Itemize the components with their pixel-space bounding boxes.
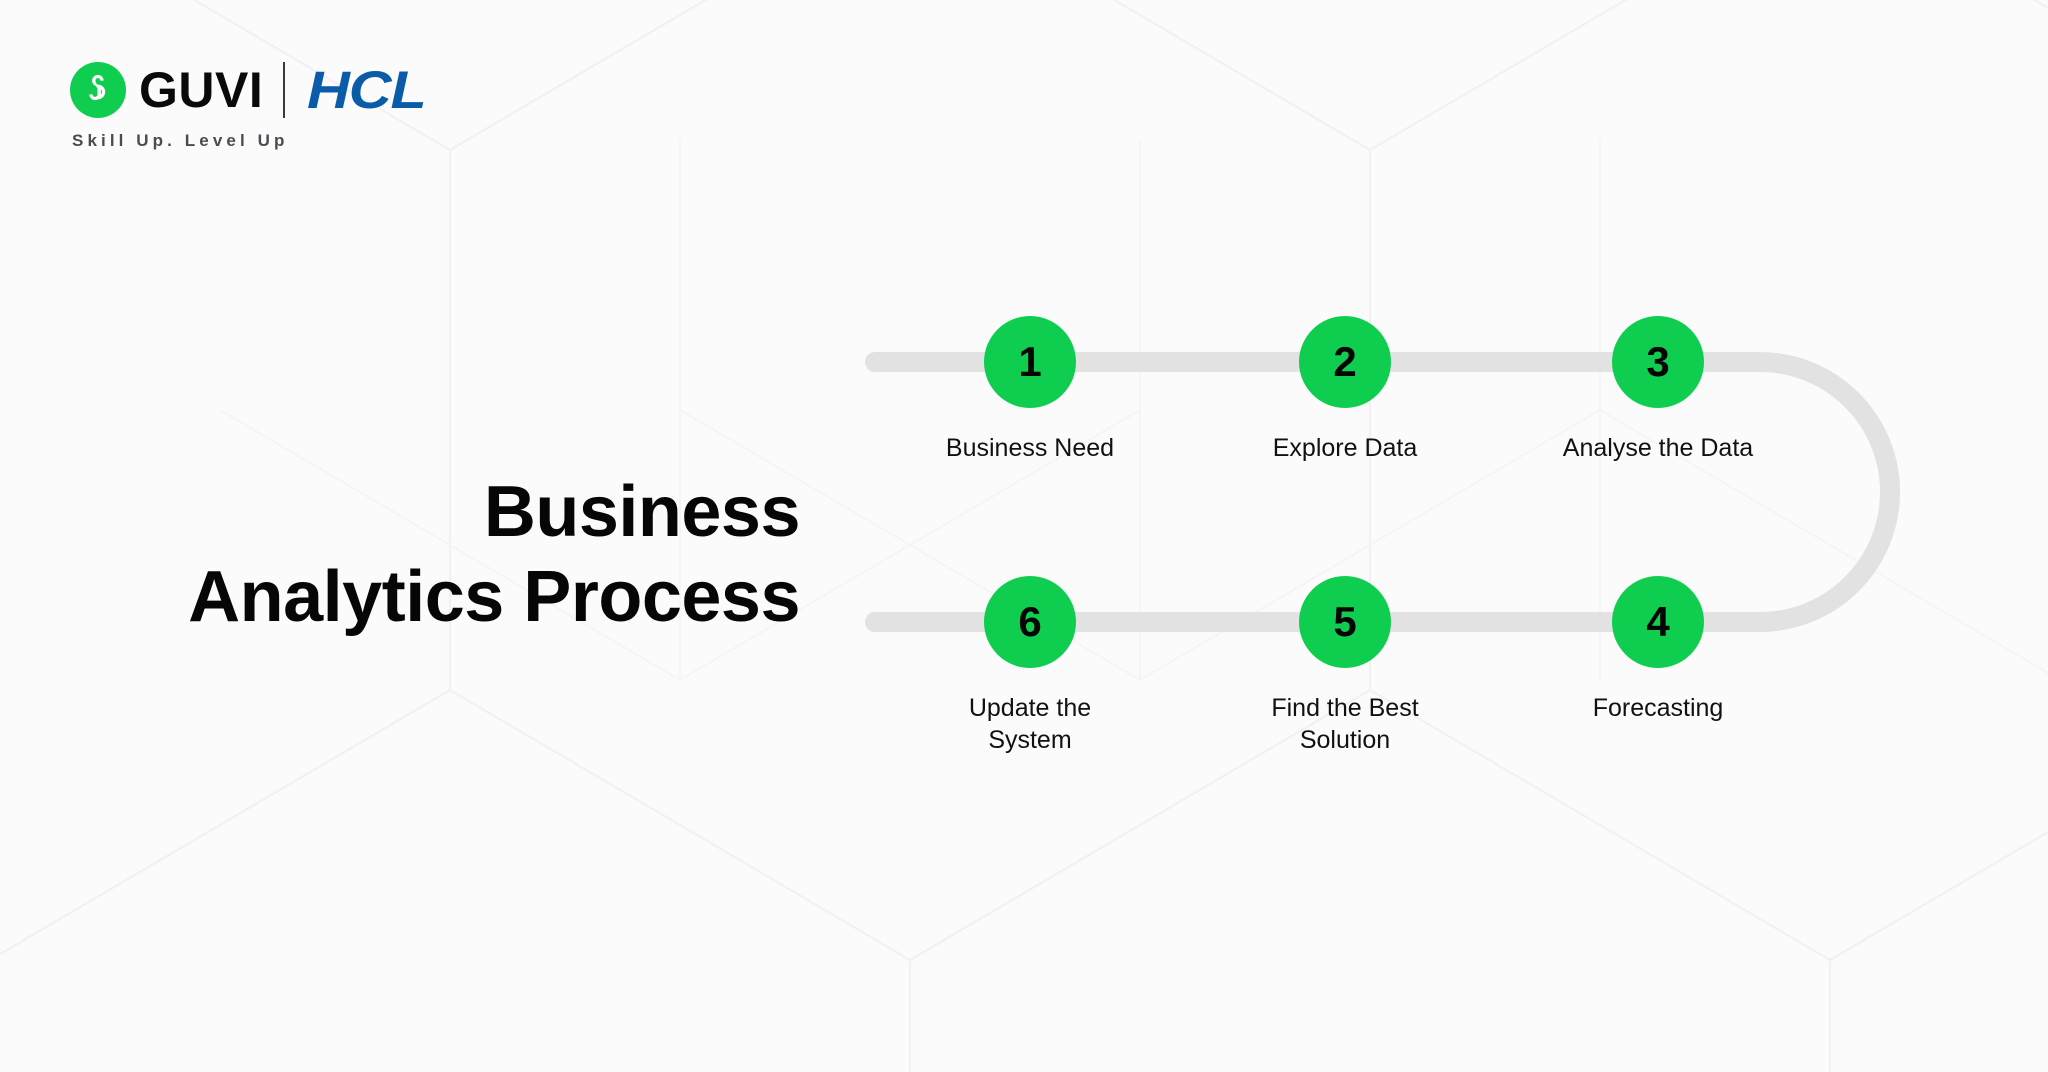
step-label: Forecasting (1543, 692, 1773, 724)
process-step-4[interactable]: 4Forecasting (1543, 576, 1773, 724)
flow-track-path (0, 0, 2048, 1072)
step-label: Update the System (915, 692, 1145, 756)
process-step-5[interactable]: 5Find the Best Solution (1230, 576, 1460, 756)
step-label: Analyse the Data (1543, 432, 1773, 464)
step-number-badge[interactable]: 2 (1299, 316, 1391, 408)
step-label: Business Need (915, 432, 1145, 464)
step-number-badge[interactable]: 1 (984, 316, 1076, 408)
step-label: Find the Best Solution (1230, 692, 1460, 756)
step-label: Explore Data (1230, 432, 1460, 464)
process-flow: 1Business Need2Explore Data3Analyse the … (0, 0, 2048, 1072)
step-number-badge[interactable]: 4 (1612, 576, 1704, 668)
slide-canvas: GUVI HCL Skill Up. Level Up Business Ana… (0, 0, 2048, 1072)
process-step-2[interactable]: 2Explore Data (1230, 316, 1460, 464)
process-step-1[interactable]: 1Business Need (915, 316, 1145, 464)
process-step-6[interactable]: 6Update the System (915, 576, 1145, 756)
step-number-badge[interactable]: 6 (984, 576, 1076, 668)
step-number-badge[interactable]: 5 (1299, 576, 1391, 668)
process-step-3[interactable]: 3Analyse the Data (1543, 316, 1773, 464)
step-number-badge[interactable]: 3 (1612, 316, 1704, 408)
